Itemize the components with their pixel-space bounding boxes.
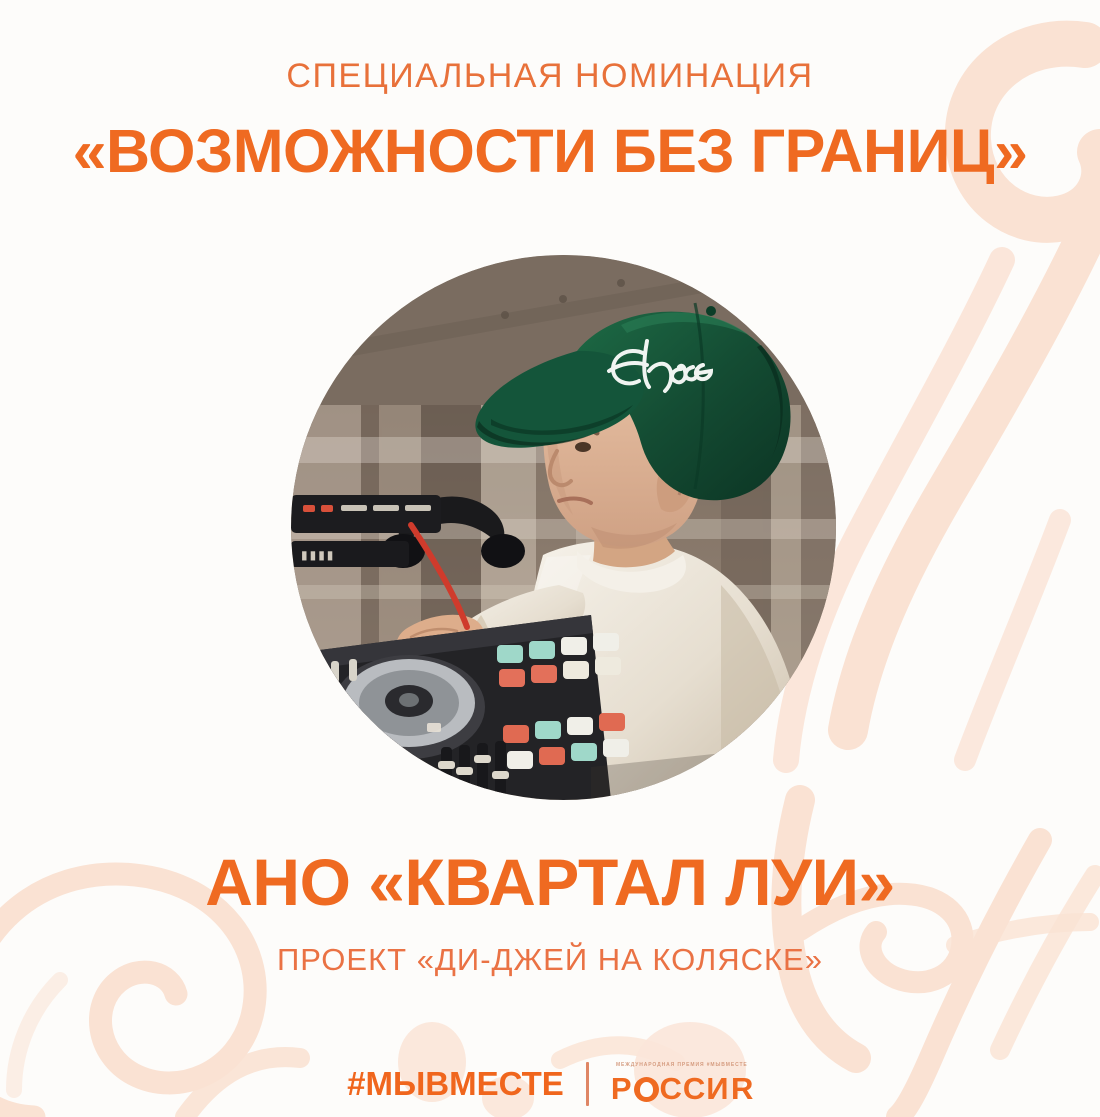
russia-logo-wordmark: РССИЯ bbox=[611, 1071, 753, 1107]
footer-titles-block: АНО «КВАРТАЛ ЛУИ» ПРОЕКТ «ДИ-ДЖЕЙ НА КОЛ… bbox=[0, 848, 1100, 977]
winner-photo: ▮▮▮▮ bbox=[291, 255, 836, 800]
nomination-headline: «ВОЗМОЖНОСТИ БЕЗ ГРАНИЦ» bbox=[0, 119, 1100, 183]
organization-title: АНО «КВАРТАЛ ЛУИ» bbox=[0, 848, 1100, 917]
russia-logo: МЕЖДУНАРОДНАЯ ПРЕМИЯ #МЫВМЕСТЕ РССИЯ bbox=[611, 1062, 753, 1107]
russia-logo-circle-icon bbox=[634, 1077, 659, 1102]
russia-logo-mid: ССИ bbox=[660, 1071, 730, 1107]
poster-canvas: СПЕЦИАЛЬНАЯ НОМИНАЦИЯ «ВОЗМОЖНОСТИ БЕЗ Г… bbox=[0, 0, 1100, 1117]
controller-knobs bbox=[311, 659, 357, 761]
ornament-right-stem bbox=[965, 520, 1060, 760]
russia-logo-tagline: МЕЖДУНАРОДНАЯ ПРЕМИЯ #МЫВМЕСТЕ bbox=[616, 1062, 748, 1068]
footer-logos: #МЫВМЕСТЕ МЕЖДУНАРОДНАЯ ПРЕМИЯ #МЫВМЕСТЕ… bbox=[0, 1050, 1100, 1117]
project-subtitle: ПРОЕКТ «ДИ-ДЖЕЙ НА КОЛЯСКЕ» bbox=[0, 943, 1100, 977]
nomination-kicker: СПЕЦИАЛЬНАЯ НОМИНАЦИЯ bbox=[0, 58, 1100, 95]
logo-divider bbox=[586, 1062, 589, 1106]
header-block: СПЕЦИАЛЬНАЯ НОМИНАЦИЯ «ВОЗМОЖНОСТИ БЕЗ Г… bbox=[0, 58, 1100, 183]
dj-photo-illustration: ▮▮▮▮ bbox=[291, 255, 836, 800]
russia-logo-suffix: Я bbox=[730, 1071, 753, 1107]
svg-text:▮▮▮▮: ▮▮▮▮ bbox=[301, 548, 335, 562]
myvmeste-logo: #МЫВМЕСТЕ bbox=[347, 1065, 564, 1103]
russia-logo-prefix: Р bbox=[611, 1071, 633, 1107]
